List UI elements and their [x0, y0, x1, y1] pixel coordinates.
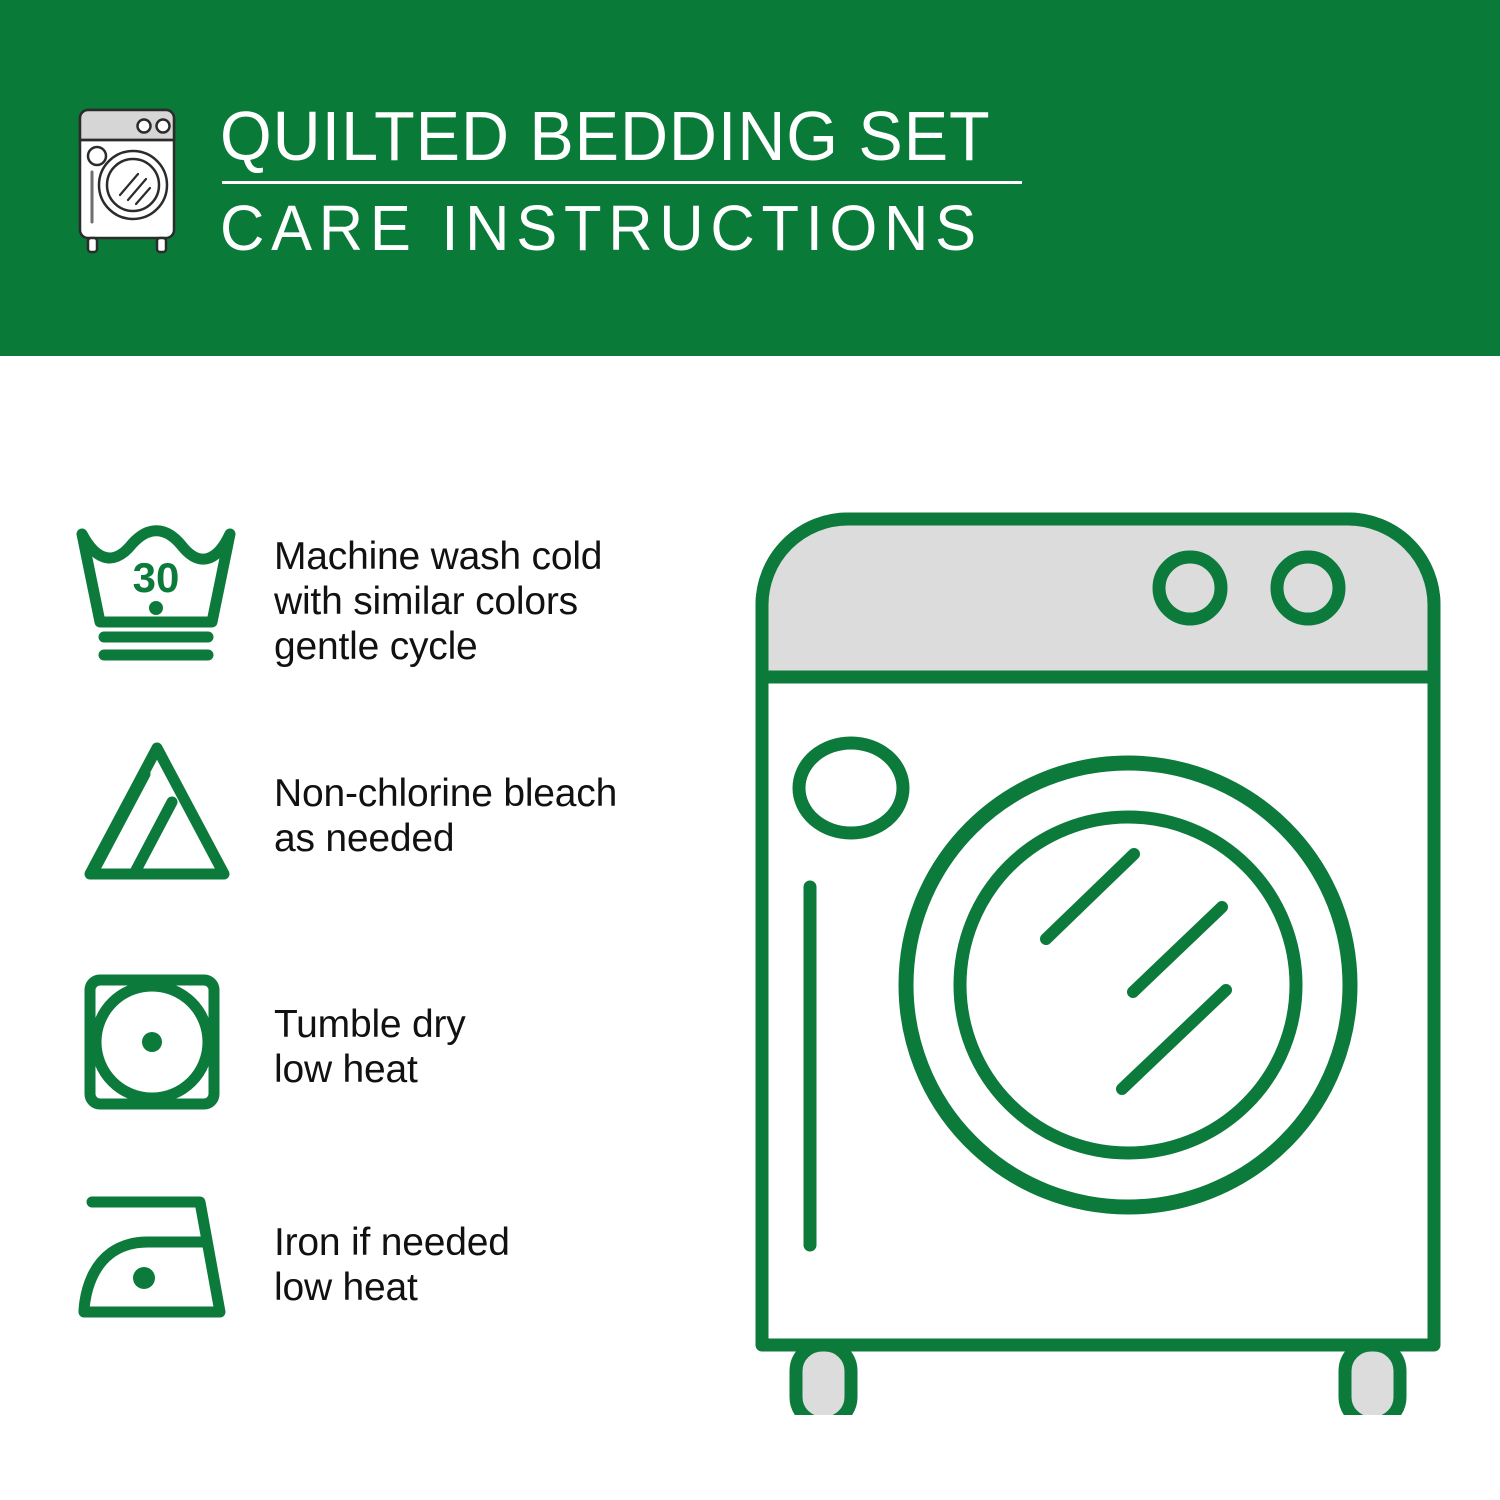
header-content: QUILTED BEDDING SET CARE INSTRUCTIONS	[62, 96, 1062, 276]
washer-knob-left	[1159, 557, 1221, 619]
wash-temperature-label: 30	[133, 554, 180, 601]
care-row-machine-wash: 30 Machine wash cold with similar colors…	[72, 518, 702, 671]
care-text-machine-wash: Machine wash cold with similar colors ge…	[274, 534, 602, 669]
washer-leg-right	[1345, 1345, 1400, 1415]
care-row-bleach: Non-chlorine bleach as needed	[72, 738, 702, 891]
washer-knob-right	[1277, 557, 1339, 619]
care-text-iron: Iron if needed low heat	[274, 1220, 510, 1310]
tumble-dry-one-dot-icon	[72, 968, 242, 1121]
care-row-iron: Iron if needed low heat	[72, 1186, 702, 1339]
page-title: QUILTED BEDDING SET	[220, 96, 1037, 176]
front-load-washing-machine-illustration	[748, 505, 1448, 1415]
care-instructions-page: QUILTED BEDDING SET CARE INSTRUCTIONS 30	[0, 0, 1500, 1500]
care-text-tumble-dry: Tumble dry low heat	[274, 1002, 466, 1092]
bleach-triangle-icon	[72, 738, 242, 891]
header-text-block: QUILTED BEDDING SET CARE INSTRUCTIONS	[220, 96, 1080, 264]
washing-machine-icon	[62, 100, 192, 260]
care-instruction-list: 30 Machine wash cold with similar colors…	[0, 356, 720, 1500]
iron-one-dot-icon	[72, 1186, 242, 1339]
care-row-tumble-dry: Tumble dry low heat	[72, 968, 702, 1121]
washer-leg-left	[796, 1345, 851, 1415]
header-banner: QUILTED BEDDING SET CARE INSTRUCTIONS	[0, 0, 1500, 356]
washer-dispenser-circle	[799, 743, 903, 833]
wash-tub-30-icon: 30	[72, 518, 242, 671]
care-text-bleach: Non-chlorine bleach as needed	[274, 771, 617, 861]
page-subtitle: CARE INSTRUCTIONS	[220, 192, 1046, 264]
header-divider	[222, 181, 1022, 184]
